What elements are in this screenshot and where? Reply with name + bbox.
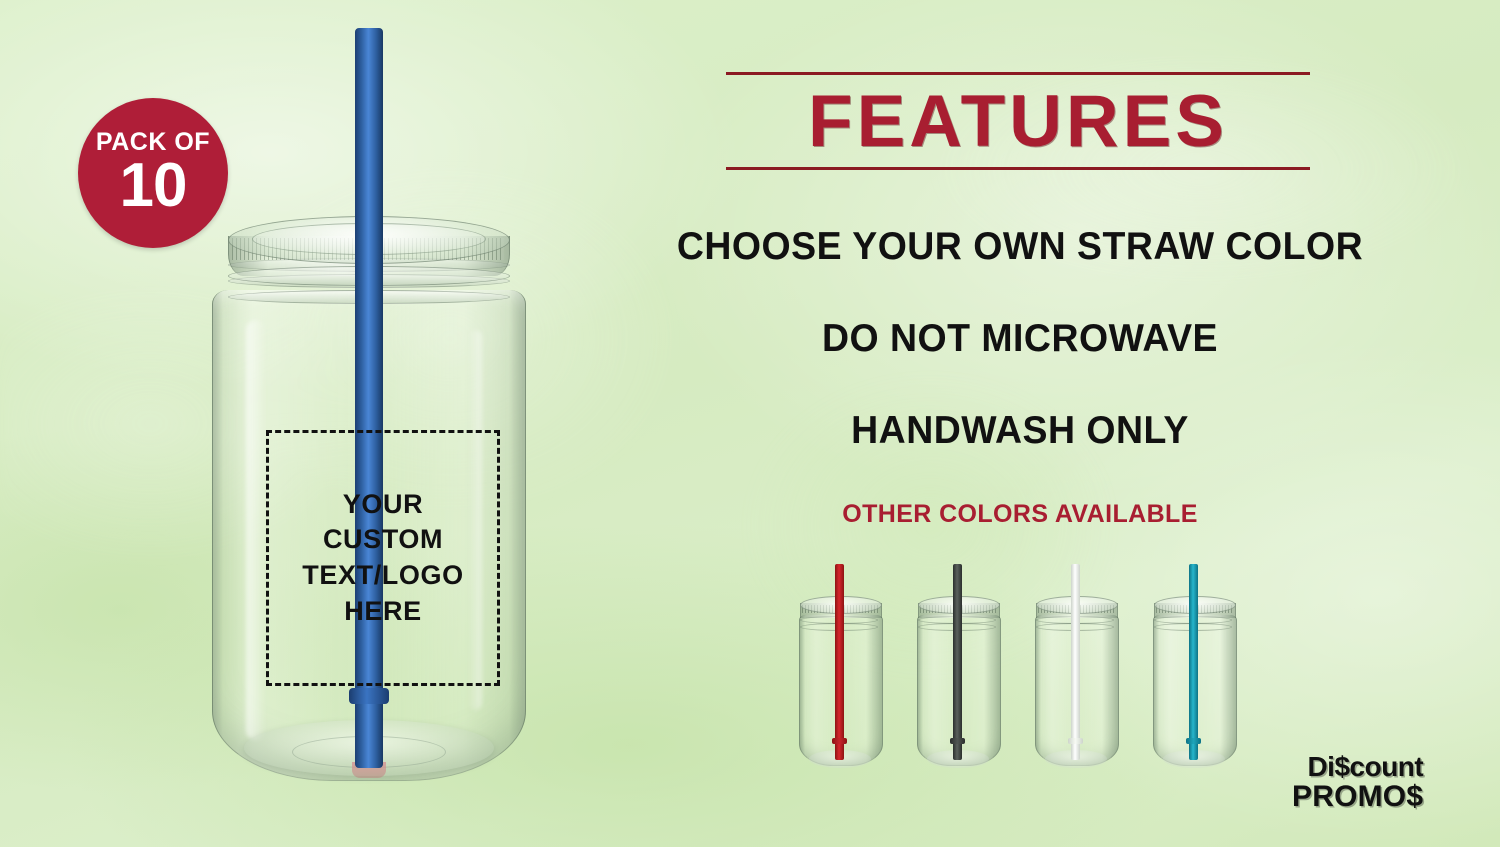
feature-item-3: HANDWASH ONLY xyxy=(655,409,1385,453)
mini-straw-teal xyxy=(1189,564,1198,760)
imprint-line-1: YOUR xyxy=(343,487,423,523)
main-product-jar xyxy=(200,20,540,810)
mini-straw-joint xyxy=(832,738,847,744)
color-variant-red xyxy=(795,560,885,775)
feature-item-1: CHOOSE YOUR OWN STRAW COLOR xyxy=(655,225,1385,269)
pack-quantity: 10 xyxy=(120,157,187,216)
features-heading: FEATURES xyxy=(726,78,1310,164)
mini-straw-joint xyxy=(1068,738,1083,744)
jar-highlight-left xyxy=(246,320,266,740)
mini-straw-joint xyxy=(950,738,965,744)
imprint-line-4: HERE xyxy=(344,594,421,630)
mini-straw-joint xyxy=(1186,738,1201,744)
imprint-line-2: CUSTOM xyxy=(323,522,443,558)
mini-straw-black xyxy=(953,564,962,760)
color-variant-teal xyxy=(1149,560,1239,775)
color-variant-black xyxy=(913,560,1003,775)
color-variant-white xyxy=(1031,560,1121,775)
logo-line-1: Di$count xyxy=(1292,752,1423,781)
imprint-area: YOUR CUSTOM TEXT/LOGO HERE xyxy=(266,430,500,686)
color-variant-row xyxy=(795,560,1265,775)
features-rule-top xyxy=(726,72,1310,75)
other-colors-label: OTHER COLORS AVAILABLE xyxy=(640,500,1400,529)
product-feature-banner: PACK OF 10 YOUR CUSTOM TEXT/LOGO HERE xyxy=(0,0,1500,847)
features-rule-bottom xyxy=(726,167,1310,170)
mini-straw-white xyxy=(1071,564,1080,760)
main-straw-joint xyxy=(349,688,389,704)
pack-of-badge: PACK OF 10 xyxy=(78,98,228,248)
feature-item-2: DO NOT MICROWAVE xyxy=(655,317,1385,361)
imprint-line-3: TEXT/LOGO xyxy=(302,558,463,594)
mini-straw-red xyxy=(835,564,844,760)
logo-line-2: PROMO$ xyxy=(1292,781,1423,813)
features-list: CHOOSE YOUR OWN STRAW COLOR DO NOT MICRO… xyxy=(640,225,1400,453)
brand-logo: Di$count PROMO$ xyxy=(1292,752,1423,813)
